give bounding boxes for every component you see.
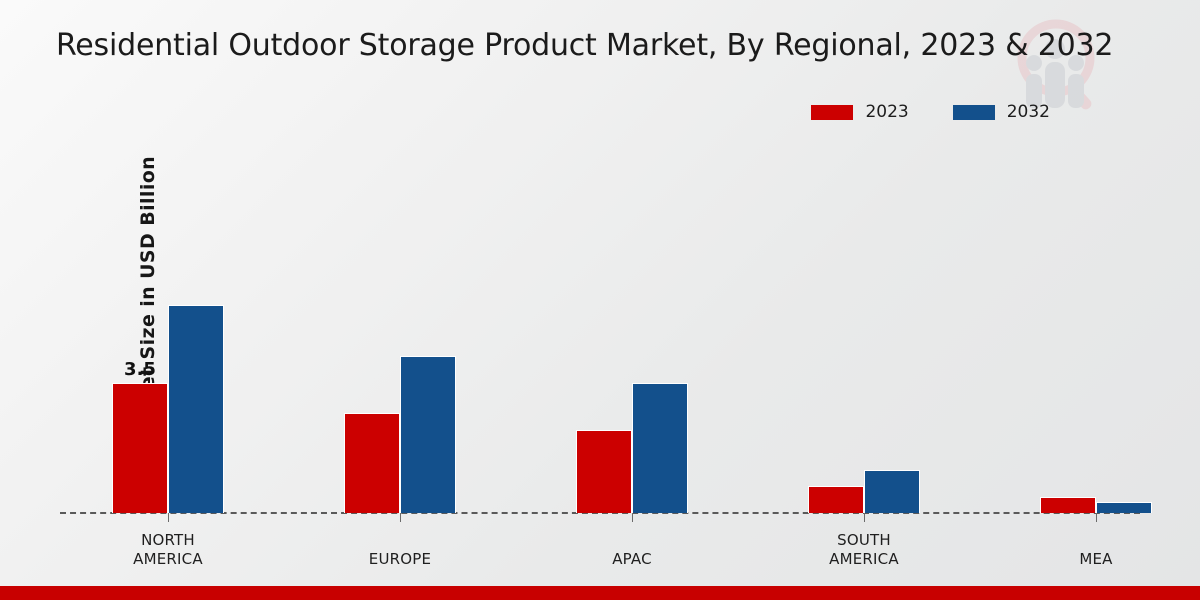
bar-2023-mea[interactable]	[1040, 497, 1096, 513]
bar-2032-south-america[interactable]	[864, 470, 920, 513]
bar-2023-europe[interactable]	[344, 413, 400, 513]
bar-2023-south-america[interactable]	[808, 486, 864, 513]
x-label-line-2: AMERICA	[68, 550, 268, 569]
bar-2032-mea[interactable]	[1096, 502, 1152, 513]
bar-2023-north-america[interactable]: 3.5	[112, 383, 168, 513]
legend-label-2032: 2032	[1007, 102, 1050, 122]
x-label-south-america: SOUTH AMERICA	[764, 531, 964, 569]
bar-2032-north-america[interactable]	[168, 305, 224, 513]
x-label-north-america: NORTH AMERICA	[68, 531, 268, 569]
x-tick-mea	[1096, 513, 1097, 522]
x-label-line-1: NORTH	[68, 531, 268, 550]
x-label-europe: EUROPE	[300, 550, 500, 569]
bar-2023-apac[interactable]	[576, 430, 632, 513]
x-label-line-1: SOUTH	[764, 531, 964, 550]
x-tick-apac	[632, 513, 633, 522]
chart-title: Residential Outdoor Storage Product Mark…	[56, 28, 1156, 63]
plot-area: 3.5 NORTH AMERICA EUROPE	[60, 140, 1140, 513]
x-tick-north-america	[168, 513, 169, 522]
x-label-line-1: EUROPE	[300, 550, 500, 569]
chart-figure: Residential Outdoor Storage Product Mark…	[0, 0, 1200, 600]
bar-2032-apac[interactable]	[632, 383, 688, 513]
x-label-line-1: MEA	[996, 550, 1196, 569]
chart-legend: 2023 2032	[811, 102, 1050, 122]
legend-item-2032[interactable]: 2032	[953, 102, 1050, 122]
x-label-line-2: AMERICA	[764, 550, 964, 569]
legend-label-2023: 2023	[865, 102, 908, 122]
x-tick-south-america	[864, 513, 865, 522]
bar-2032-europe[interactable]	[400, 356, 456, 513]
legend-item-2023[interactable]: 2023	[811, 102, 908, 122]
legend-swatch-2032	[953, 105, 995, 120]
legend-swatch-2023	[811, 105, 853, 120]
x-label-line-1: APAC	[532, 550, 732, 569]
x-label-apac: APAC	[532, 550, 732, 569]
x-label-mea: MEA	[996, 550, 1196, 569]
bar-value-2023-north-america: 3.5	[124, 359, 156, 380]
x-tick-europe	[400, 513, 401, 522]
footer-accent-band	[0, 586, 1200, 600]
